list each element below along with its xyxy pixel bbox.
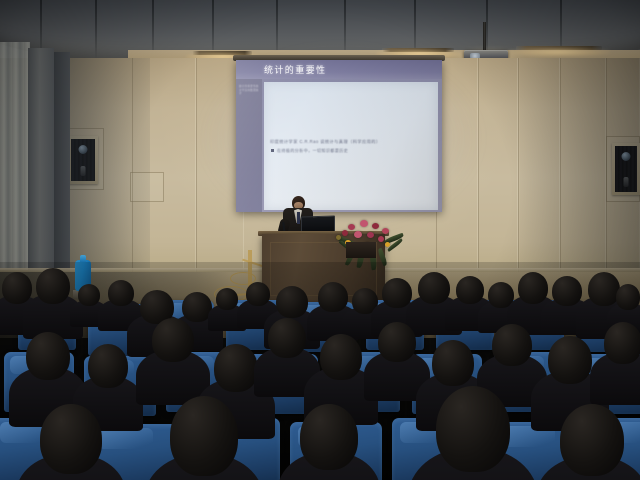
audience-member-head [432,340,474,386]
wall-pillar [28,48,54,278]
slide-body-line-2: 在终极的分析中，一切知识都是历史 [277,148,348,154]
audience-member-head [604,322,640,364]
slide-title-band: 统计的重要性 [236,60,442,79]
audience-member-head [552,276,582,306]
audience-member-head [276,286,308,318]
audience-area [0,262,640,480]
audience-member-head [88,344,128,388]
lecture-hall-photo: 统计的重要性 统计的重要性统计学应用数理统计 印度统计学家 C.R.Rao 说统… [0,0,640,480]
audience-member-head [214,344,258,392]
audience-member-head [36,268,70,304]
projector-mount-pole [483,22,486,50]
slide-body-line-1: 印度统计学家 C.R.Rao 说统计与真理（科学应用的） [270,139,381,145]
audience-member-head [382,278,412,308]
flower-vase [346,242,376,258]
seat-highlight [98,428,153,449]
slide-title: 统计的重要性 [264,63,326,76]
audience-member-head [518,272,548,304]
audience-member-head [318,282,348,312]
audience-member-head [436,386,510,472]
water-cooler-neck [80,255,86,262]
audience-member-head [40,404,102,474]
wall-shadow-right [520,58,640,288]
audience-member-head [108,280,134,306]
audience-member-head [268,318,306,358]
audience-member-head [2,272,32,304]
audience-member-head [378,322,416,362]
audience-member-head [492,324,532,366]
audience-member-head [588,272,620,306]
audience-member-head [170,396,238,476]
audience-member-head [320,334,362,380]
audience-member-head [616,284,640,310]
audience-member-head [152,318,194,362]
audience-member-head [300,404,358,470]
audience-member-head [246,282,270,306]
audience-member-head [26,332,70,380]
projection-screen: 统计的重要性 统计的重要性统计学应用数理统计 印度统计学家 C.R.Rao 说统… [236,60,442,212]
slide-sidebar: 统计的重要性统计学应用数理统计 [236,79,262,212]
audience-member-head [560,404,624,476]
wall-pillar-secondary [54,52,70,278]
slide-body: 印度统计学家 C.R.Rao 说统计与真理（科学应用的） 在终极的分析中，一切知… [264,82,438,210]
audience-member-head [456,276,484,304]
slide-bullet-marker [271,149,274,152]
audience-member-head [216,288,238,310]
side-curtain [0,42,30,270]
presentation-slide: 统计的重要性 统计的重要性统计学应用数理统计 印度统计学家 C.R.Rao 说统… [236,60,442,212]
audience-member-head [548,336,592,384]
audience-member-head [78,284,100,306]
audience-member-head [418,272,450,304]
presenter-tie [297,212,300,224]
slide-sidebar-text: 统计的重要性统计学应用数理统计 [236,79,262,96]
